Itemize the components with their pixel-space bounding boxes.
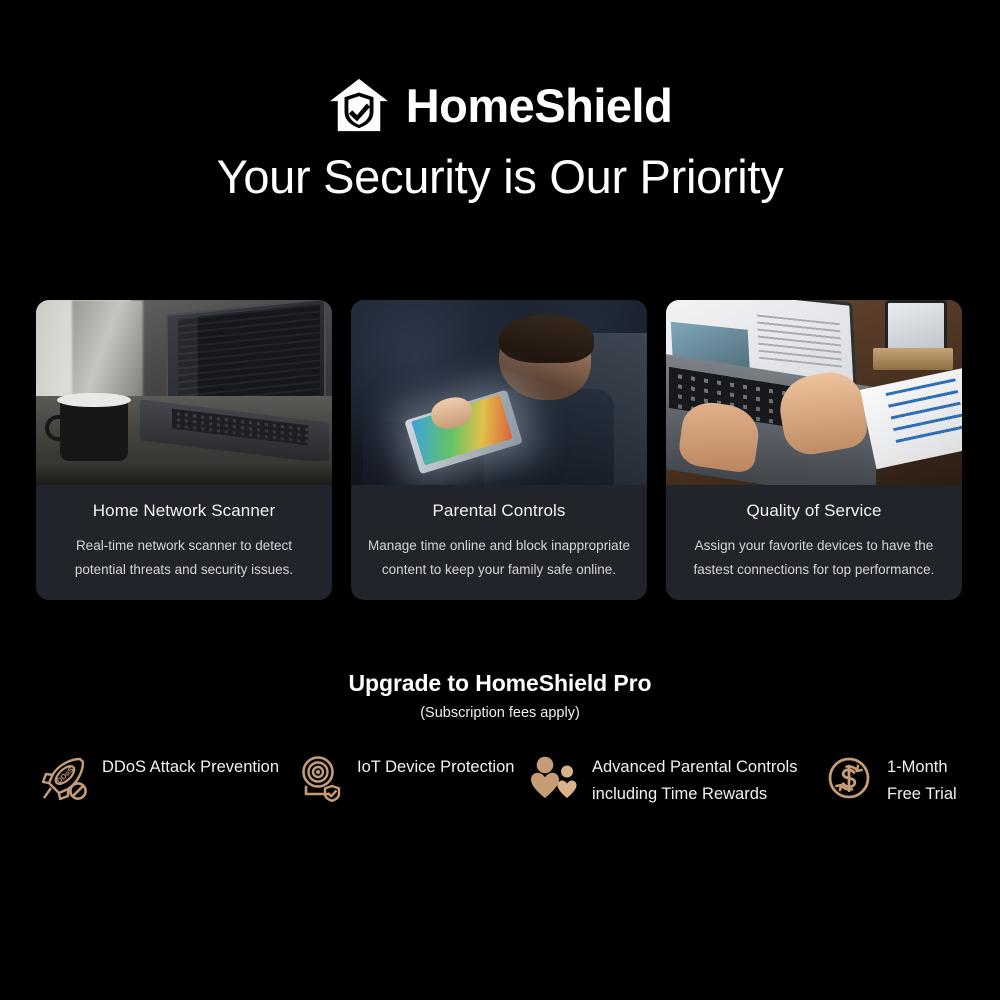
pro-feature-list: DDoS DDoS Attack Prevention	[40, 752, 970, 808]
pro-feature-label: 1-Month Free Trial	[887, 752, 970, 808]
card-title: Home Network Scanner	[52, 501, 316, 521]
homeshield-promo-page: HomeShield Your Security is Our Priority…	[0, 0, 1000, 1000]
card-body: Quality of Service Assign your favorite …	[666, 485, 962, 600]
feature-card-parental-controls[interactable]: Parental Controls Manage time online and…	[351, 300, 647, 600]
pro-subtitle: (Subscription fees apply)	[0, 705, 1000, 721]
pro-feature-label: IoT Device Protection	[357, 752, 514, 781]
home-shield-check-icon	[328, 77, 390, 133]
dollar-refund-circle-icon	[825, 754, 873, 802]
card-title: Parental Controls	[367, 501, 631, 521]
page-header: HomeShield Your Security is Our Priority	[0, 0, 1000, 201]
pro-feature-iot-device-protection: IoT Device Protection	[295, 752, 530, 802]
feature-card-quality-of-service[interactable]: Quality of Service Assign your favorite …	[666, 300, 962, 600]
page-tagline: Your Security is Our Priority	[0, 152, 1000, 201]
laptop-on-counter-photo	[36, 300, 332, 485]
brand-row: HomeShield	[0, 74, 1000, 136]
pro-feature-ddos-attack-prevention: DDoS DDoS Attack Prevention	[40, 752, 295, 802]
pro-feature-label: Advanced Parental Controls including Tim…	[592, 752, 825, 808]
hands-typing-on-laptop-photo	[666, 300, 962, 485]
card-body: Home Network Scanner Real-time network s…	[36, 485, 332, 600]
card-title: Quality of Service	[682, 501, 946, 521]
pro-feature-advanced-parental-controls: Advanced Parental Controls including Tim…	[530, 752, 825, 808]
pro-title: Upgrade to HomeShield Pro	[0, 670, 1000, 697]
pro-feature-free-trial: 1-Month Free Trial	[825, 752, 970, 808]
parent-child-hearts-icon	[530, 754, 578, 802]
card-body: Parental Controls Manage time online and…	[351, 485, 647, 600]
card-description: Assign your favorite devices to have the…	[682, 534, 946, 580]
card-description: Real-time network scanner to detect pote…	[52, 534, 316, 580]
brand-name: HomeShield	[406, 82, 673, 129]
ddos-rocket-block-icon: DDoS	[40, 754, 88, 802]
pro-feature-label: DDoS Attack Prevention	[102, 752, 279, 781]
feature-card-list: Home Network Scanner Real-time network s…	[36, 300, 964, 600]
feature-card-home-network-scanner[interactable]: Home Network Scanner Real-time network s…	[36, 300, 332, 600]
child-using-tablet-photo	[351, 300, 647, 485]
iot-webcam-shield-icon	[295, 754, 343, 802]
card-description: Manage time online and block inappropria…	[367, 534, 631, 580]
pro-upgrade-section: Upgrade to HomeShield Pro (Subscription …	[0, 670, 1000, 721]
